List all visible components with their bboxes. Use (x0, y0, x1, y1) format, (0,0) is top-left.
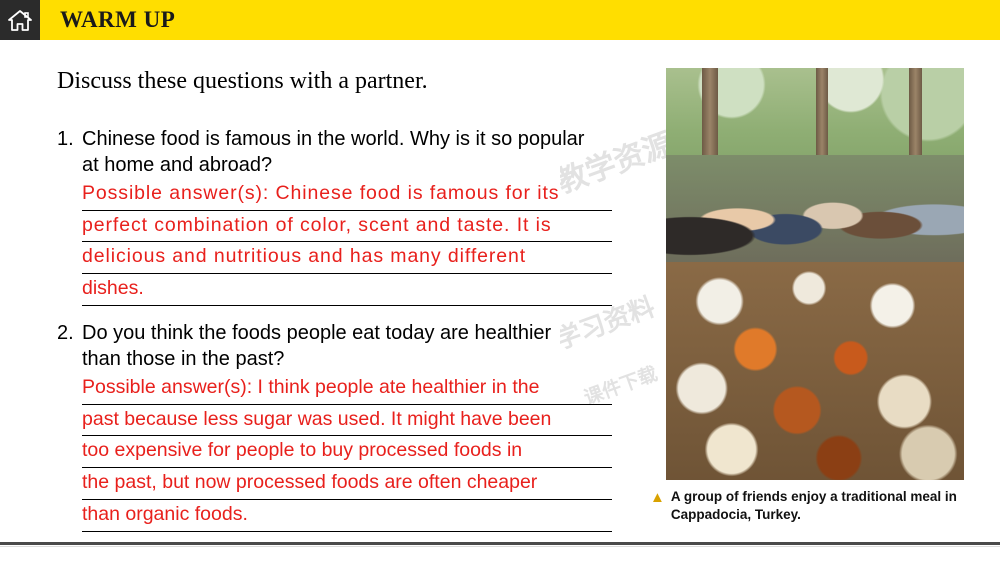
answer-2-line-1: Possible answer(s): I think people ate h… (82, 373, 612, 405)
photo-caption-row: ▲ A group of friends enjoy a traditional… (650, 488, 980, 524)
answer-2: Possible answer(s): I think people ate h… (82, 373, 612, 532)
answer-1-line-1: Possible answer(s): Chinese food is famo… (82, 179, 612, 211)
question-block-1: 1. Chinese food is famous in the world. … (57, 126, 627, 306)
question-block-2: 2. Do you think the foods people eat tod… (57, 320, 627, 532)
group-meal-photo (666, 68, 964, 480)
instruction-text: Discuss these questions with a partner. (57, 68, 428, 95)
question-1-number: 1. (57, 126, 82, 152)
slide-content: Discuss these questions with a partner. … (0, 40, 1000, 540)
answer-2-line-4: the past, but now processed foods are of… (82, 468, 612, 500)
page-title: WARM UP (60, 7, 175, 33)
photo-panel (666, 68, 964, 480)
question-2-line-2: than those in the past? (57, 346, 627, 372)
question-1-text-line-1: Chinese food is famous in the world. Why… (82, 126, 584, 152)
answer-1-line-3: delicious and nutritious and has many di… (82, 242, 612, 274)
question-2-line-1: 2. Do you think the foods people eat tod… (57, 320, 627, 346)
question-2-text-line-1: Do you think the foods people eat today … (82, 320, 551, 346)
photo-table-layer (666, 262, 964, 480)
footer-bar (0, 546, 1000, 563)
question-1-line-2: at home and abroad? (57, 152, 627, 178)
question-1-text-line-2: at home and abroad? (82, 152, 272, 178)
answer-2-line-5: than organic foods. (82, 500, 612, 532)
footer-divider (0, 542, 1000, 545)
question-2-text-line-2: than those in the past? (82, 346, 284, 372)
home-button[interactable] (0, 0, 40, 40)
photo-caption-line-1: A group of friends enjoy a traditional m… (671, 489, 957, 504)
answer-1-line-4: dishes. (82, 274, 612, 306)
answer-1-line-2: perfect combination of color, scent and … (82, 211, 612, 243)
photo-caption-line-2: Cappadocia, Turkey. (671, 507, 801, 522)
home-icon (7, 7, 33, 33)
caret-up-icon: ▲ (650, 490, 665, 505)
photo-caption: A group of friends enjoy a traditional m… (671, 488, 971, 524)
question-2-number: 2. (57, 320, 82, 346)
question-1-line-1: 1. Chinese food is famous in the world. … (57, 126, 627, 152)
answer-1: Possible answer(s): Chinese food is famo… (82, 179, 612, 306)
answer-2-line-3: too expensive for people to buy processe… (82, 436, 612, 468)
answer-2-line-2: past because less sugar was used. It mig… (82, 405, 612, 437)
header-bar: WARM UP (0, 0, 1000, 40)
